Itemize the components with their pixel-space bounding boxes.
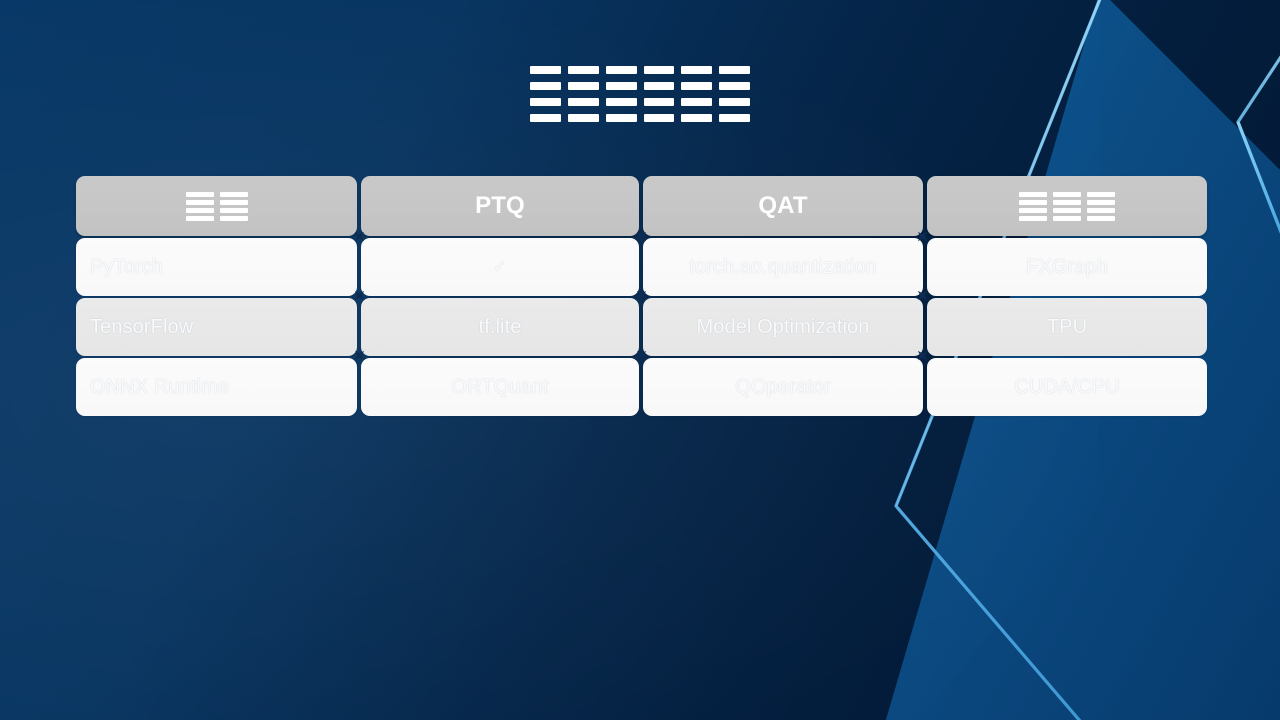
table-header-cell-qat[interactable]: QAT bbox=[643, 176, 923, 236]
cell-backend: CUDA/CPU bbox=[927, 358, 1207, 416]
cell-backend: TPU bbox=[927, 298, 1207, 356]
table-header-cell-backend[interactable] bbox=[927, 176, 1207, 236]
cell-qat: torch.ao.quantization bbox=[643, 238, 923, 296]
table-row[interactable]: ONNX Runtime ORTQuant QOperator CUDA/CPU bbox=[76, 358, 1203, 416]
table-row[interactable]: PyTorch ✓ torch.ao.quantization FXGraph bbox=[76, 238, 1203, 296]
table-row[interactable]: TensorFlow tf.lite Model Optimization TP… bbox=[76, 298, 1203, 356]
cell-ptq: ✓ bbox=[361, 238, 639, 296]
table-header-label-2: QAT bbox=[758, 192, 807, 220]
cell-ptq: ORTQuant bbox=[361, 358, 639, 416]
cell-qat: QOperator bbox=[643, 358, 923, 416]
cell-qat: Model Optimization bbox=[643, 298, 923, 356]
slide-title-redacted bbox=[530, 64, 750, 124]
redacted-text-icon bbox=[1019, 192, 1115, 221]
table-header-cell-ptq[interactable]: PTQ bbox=[361, 176, 639, 236]
cell-backend: FXGraph bbox=[927, 238, 1207, 296]
comparison-table: PTQ QAT PyTorch ✓ torch.ao.quantization … bbox=[76, 176, 1203, 412]
cell-ptq: tf.lite bbox=[361, 298, 639, 356]
cell-framework: TensorFlow bbox=[76, 298, 357, 356]
slide-canvas: PTQ QAT PyTorch ✓ torch.ao.quantization … bbox=[0, 0, 1280, 720]
cell-framework: ONNX Runtime bbox=[76, 358, 357, 416]
table-header-cell-framework[interactable] bbox=[76, 176, 357, 236]
table-header-row: PTQ QAT bbox=[76, 176, 1203, 236]
cell-framework: PyTorch bbox=[76, 238, 357, 296]
table-header-label-1: PTQ bbox=[475, 192, 525, 220]
redacted-text-icon bbox=[186, 192, 248, 221]
